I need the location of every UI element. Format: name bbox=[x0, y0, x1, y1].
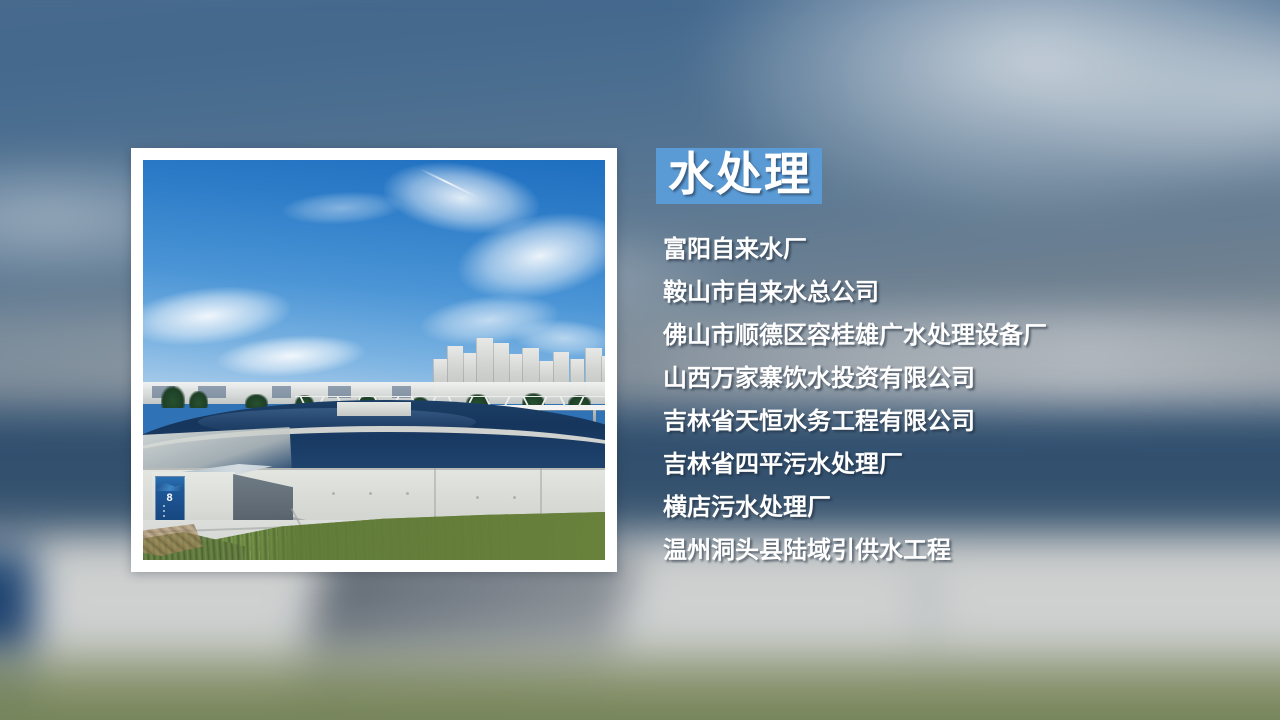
sign-subtext bbox=[163, 505, 165, 520]
photo-wall-dot bbox=[476, 496, 479, 499]
wave-icon bbox=[156, 481, 184, 492]
list-item: 温州洞头县陆域引供水工程 bbox=[656, 539, 1236, 582]
list-item: 吉林省四平污水处理厂 bbox=[656, 453, 1236, 496]
photo-card: 8 bbox=[131, 148, 617, 572]
list-item: 山西万家寨饮水投资有限公司 bbox=[656, 367, 1236, 410]
page-title: 水处理 bbox=[668, 152, 812, 198]
page-title-highlight: 水处理 bbox=[656, 148, 822, 204]
list-item: 富阳自来水厂 bbox=[656, 238, 1236, 281]
list-item: 鞍山市自来水总公司 bbox=[656, 281, 1236, 324]
photo-image: 8 bbox=[143, 160, 605, 560]
list-item: 吉林省天恒水务工程有限公司 bbox=[656, 410, 1236, 453]
photo-blue-sign: 8 bbox=[155, 476, 185, 526]
background-grass bbox=[0, 645, 1280, 720]
slide-root: 8 水处理 富阳自来水厂 鞍山市自来水总公司 佛山市顺德区容桂雄广水处理设备厂 … bbox=[0, 0, 1280, 720]
text-panel: 水处理 富阳自来水厂 鞍山市自来水总公司 佛山市顺德区容桂雄广水处理设备厂 山西… bbox=[656, 148, 1236, 582]
list-item: 横店污水处理厂 bbox=[656, 496, 1236, 539]
list-item: 佛山市顺德区容桂雄广水处理设备厂 bbox=[656, 324, 1236, 367]
photo-center-platform bbox=[337, 402, 411, 416]
photo-wall-dot bbox=[513, 496, 516, 499]
customer-list: 富阳自来水厂 鞍山市自来水总公司 佛山市顺德区容桂雄广水处理设备厂 山西万家寨饮… bbox=[656, 238, 1236, 582]
sign-number: 8 bbox=[156, 493, 184, 504]
